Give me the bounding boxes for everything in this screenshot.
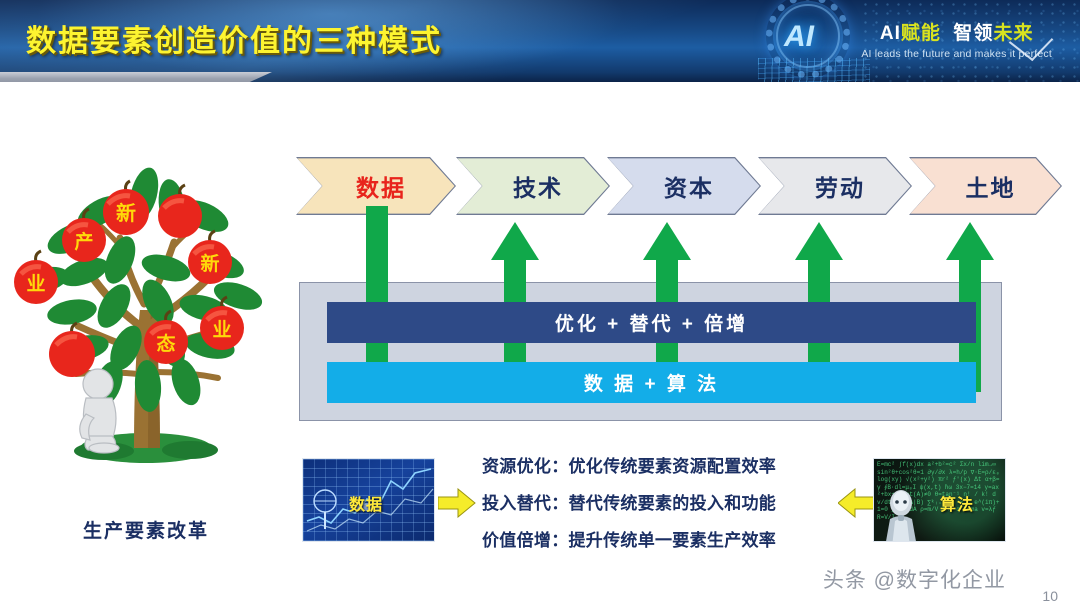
data-thumbnail: 数据 bbox=[302, 458, 435, 542]
page-title: 数据要素创造价值的三种模式 bbox=[26, 16, 442, 60]
watermark: 头条 @数字化企业 bbox=[823, 564, 1006, 594]
yellow-arrow-right-icon bbox=[438, 488, 476, 518]
chevron-label: 技术 bbox=[503, 169, 563, 203]
header-silver-band bbox=[0, 72, 272, 82]
svg-text:产: 产 bbox=[74, 230, 93, 253]
algorithm-thumbnail-label: 算法 bbox=[940, 491, 974, 515]
brand-block: AI赋能 智领未来 AI leads the future and makes … bbox=[861, 18, 1052, 60]
bullet-resource-optimization: 资源优化：优化传统要素资源配置效率 bbox=[482, 452, 838, 477]
chevron-label: 劳动 bbox=[805, 169, 865, 203]
yellow-arrow-left-icon bbox=[838, 488, 876, 518]
algorithm-thumbnail: E=mc² ∫f(x)dx a²+b²=c² Σx/n lim→∞ sin²θ+… bbox=[873, 458, 1006, 542]
data-thumbnail-label: 数据 bbox=[349, 491, 383, 515]
robot-icon bbox=[878, 489, 924, 542]
band-optimize-substitute-multiply: 优化 + 替代 + 倍增 bbox=[327, 302, 976, 343]
bullet-value-multiplication: 价值倍增：提升传统单一要素生产效率 bbox=[482, 526, 838, 551]
chevron-label: 资本 bbox=[654, 169, 714, 203]
ai-grid-floor-icon bbox=[758, 58, 870, 82]
brand-funeng-text: 赋能 bbox=[901, 23, 941, 44]
brand-zhiling-text: 智领 bbox=[953, 23, 993, 44]
sitting-figure-icon bbox=[80, 369, 119, 453]
svg-text:新: 新 bbox=[116, 201, 136, 225]
slide-header: AI 数据要素创造价值的三种模式 AI赋能 智领未来 AI leads the … bbox=[0, 0, 1080, 82]
production-factor-tree-panel: 新 产 新 业 bbox=[8, 96, 284, 576]
page-number: 10 bbox=[1042, 588, 1058, 604]
svg-text:态: 态 bbox=[156, 332, 175, 355]
ai-logo-label: AI bbox=[784, 20, 814, 54]
value-mode-bullets: 资源优化：优化传统要素资源配置效率 投入替代：替代传统要素的投入和功能 价值倍增… bbox=[482, 452, 838, 551]
chevron-label: 土地 bbox=[956, 169, 1016, 203]
brand-ai-text: AI bbox=[880, 23, 901, 44]
svg-text:新: 新 bbox=[200, 252, 219, 275]
svg-text:业: 业 bbox=[212, 319, 231, 341]
svg-text:业: 业 bbox=[26, 273, 45, 295]
bullet-input-substitution: 投入替代：替代传统要素的投入和功能 bbox=[482, 489, 838, 514]
band-data-algorithm: 数 据 + 算 法 bbox=[327, 362, 976, 403]
chevron-label: 数据 bbox=[346, 169, 406, 203]
apple-tree-illustration: 新 产 新 业 bbox=[8, 96, 284, 516]
ai-logo-graphic: AI bbox=[752, 0, 872, 82]
tree-caption: 生产要素改革 bbox=[8, 516, 284, 543]
